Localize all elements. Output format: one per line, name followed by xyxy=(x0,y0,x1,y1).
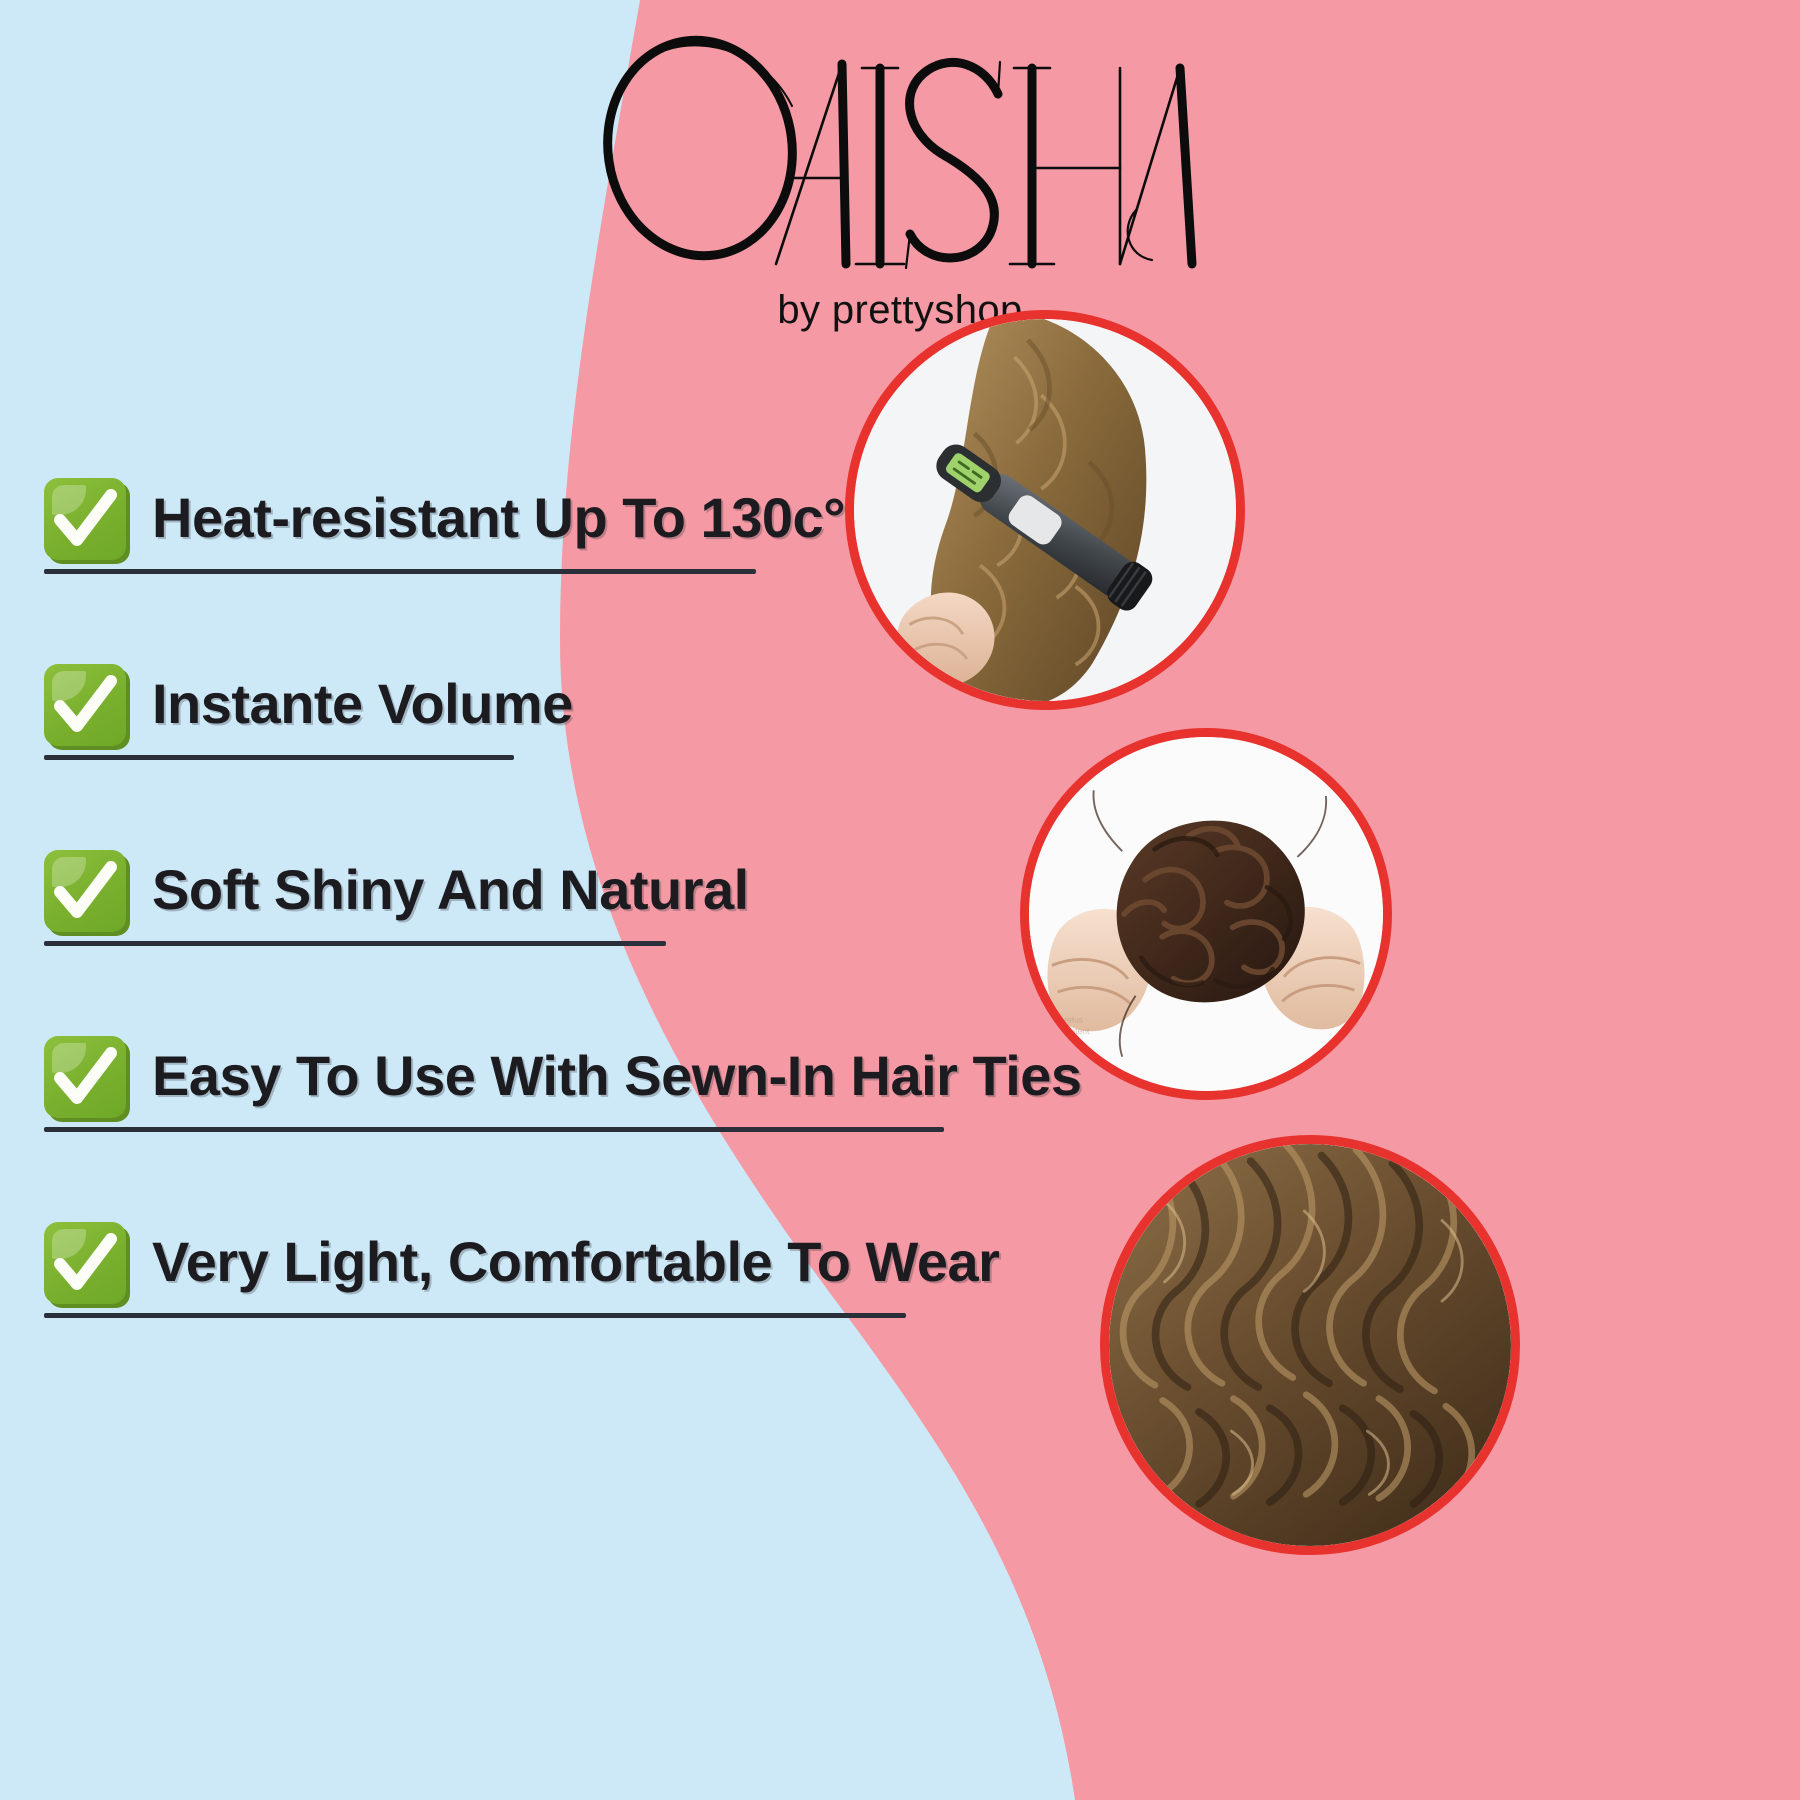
feature-item: Soft Shiny And Natural xyxy=(44,850,1044,936)
feature-underline xyxy=(44,941,666,946)
feature-label: Heat-resistant Up To 130c° xyxy=(152,489,845,554)
green-check-icon xyxy=(44,664,130,750)
brand-tagline: by prettyshop xyxy=(0,288,1800,333)
green-check-icon xyxy=(44,850,130,936)
feature-item: Easy To Use With Sewn-In Hair Ties xyxy=(44,1036,1044,1122)
photo-hands-holding-hairpiece: I refus content xyxy=(1020,728,1392,1100)
feature-label: Easy To Use With Sewn-In Hair Ties xyxy=(152,1047,1082,1112)
green-check-icon xyxy=(44,1222,130,1308)
feature-underline xyxy=(44,1313,906,1318)
feature-underline xyxy=(44,755,514,760)
svg-text:I refus: I refus xyxy=(1059,1014,1083,1024)
feature-label: Very Light, Comfortable To Wear xyxy=(152,1233,999,1298)
feature-item: Instante Volume xyxy=(44,664,1044,750)
feature-label: Instante Volume xyxy=(152,675,573,740)
feature-underline xyxy=(44,569,756,574)
photo-curly-hair-closeup xyxy=(1100,1135,1520,1555)
feature-label: Soft Shiny And Natural xyxy=(152,861,749,926)
green-check-icon xyxy=(44,1036,130,1122)
feature-item: Very Light, Comfortable To Wear xyxy=(44,1222,1044,1308)
svg-text:content: content xyxy=(1061,1026,1090,1036)
green-check-icon xyxy=(44,478,130,564)
photo-curling-iron-styling xyxy=(845,310,1245,710)
infographic-canvas: by prettyshop Heat-resistant Up To 130c°… xyxy=(0,0,1800,1800)
feature-underline xyxy=(44,1127,944,1132)
